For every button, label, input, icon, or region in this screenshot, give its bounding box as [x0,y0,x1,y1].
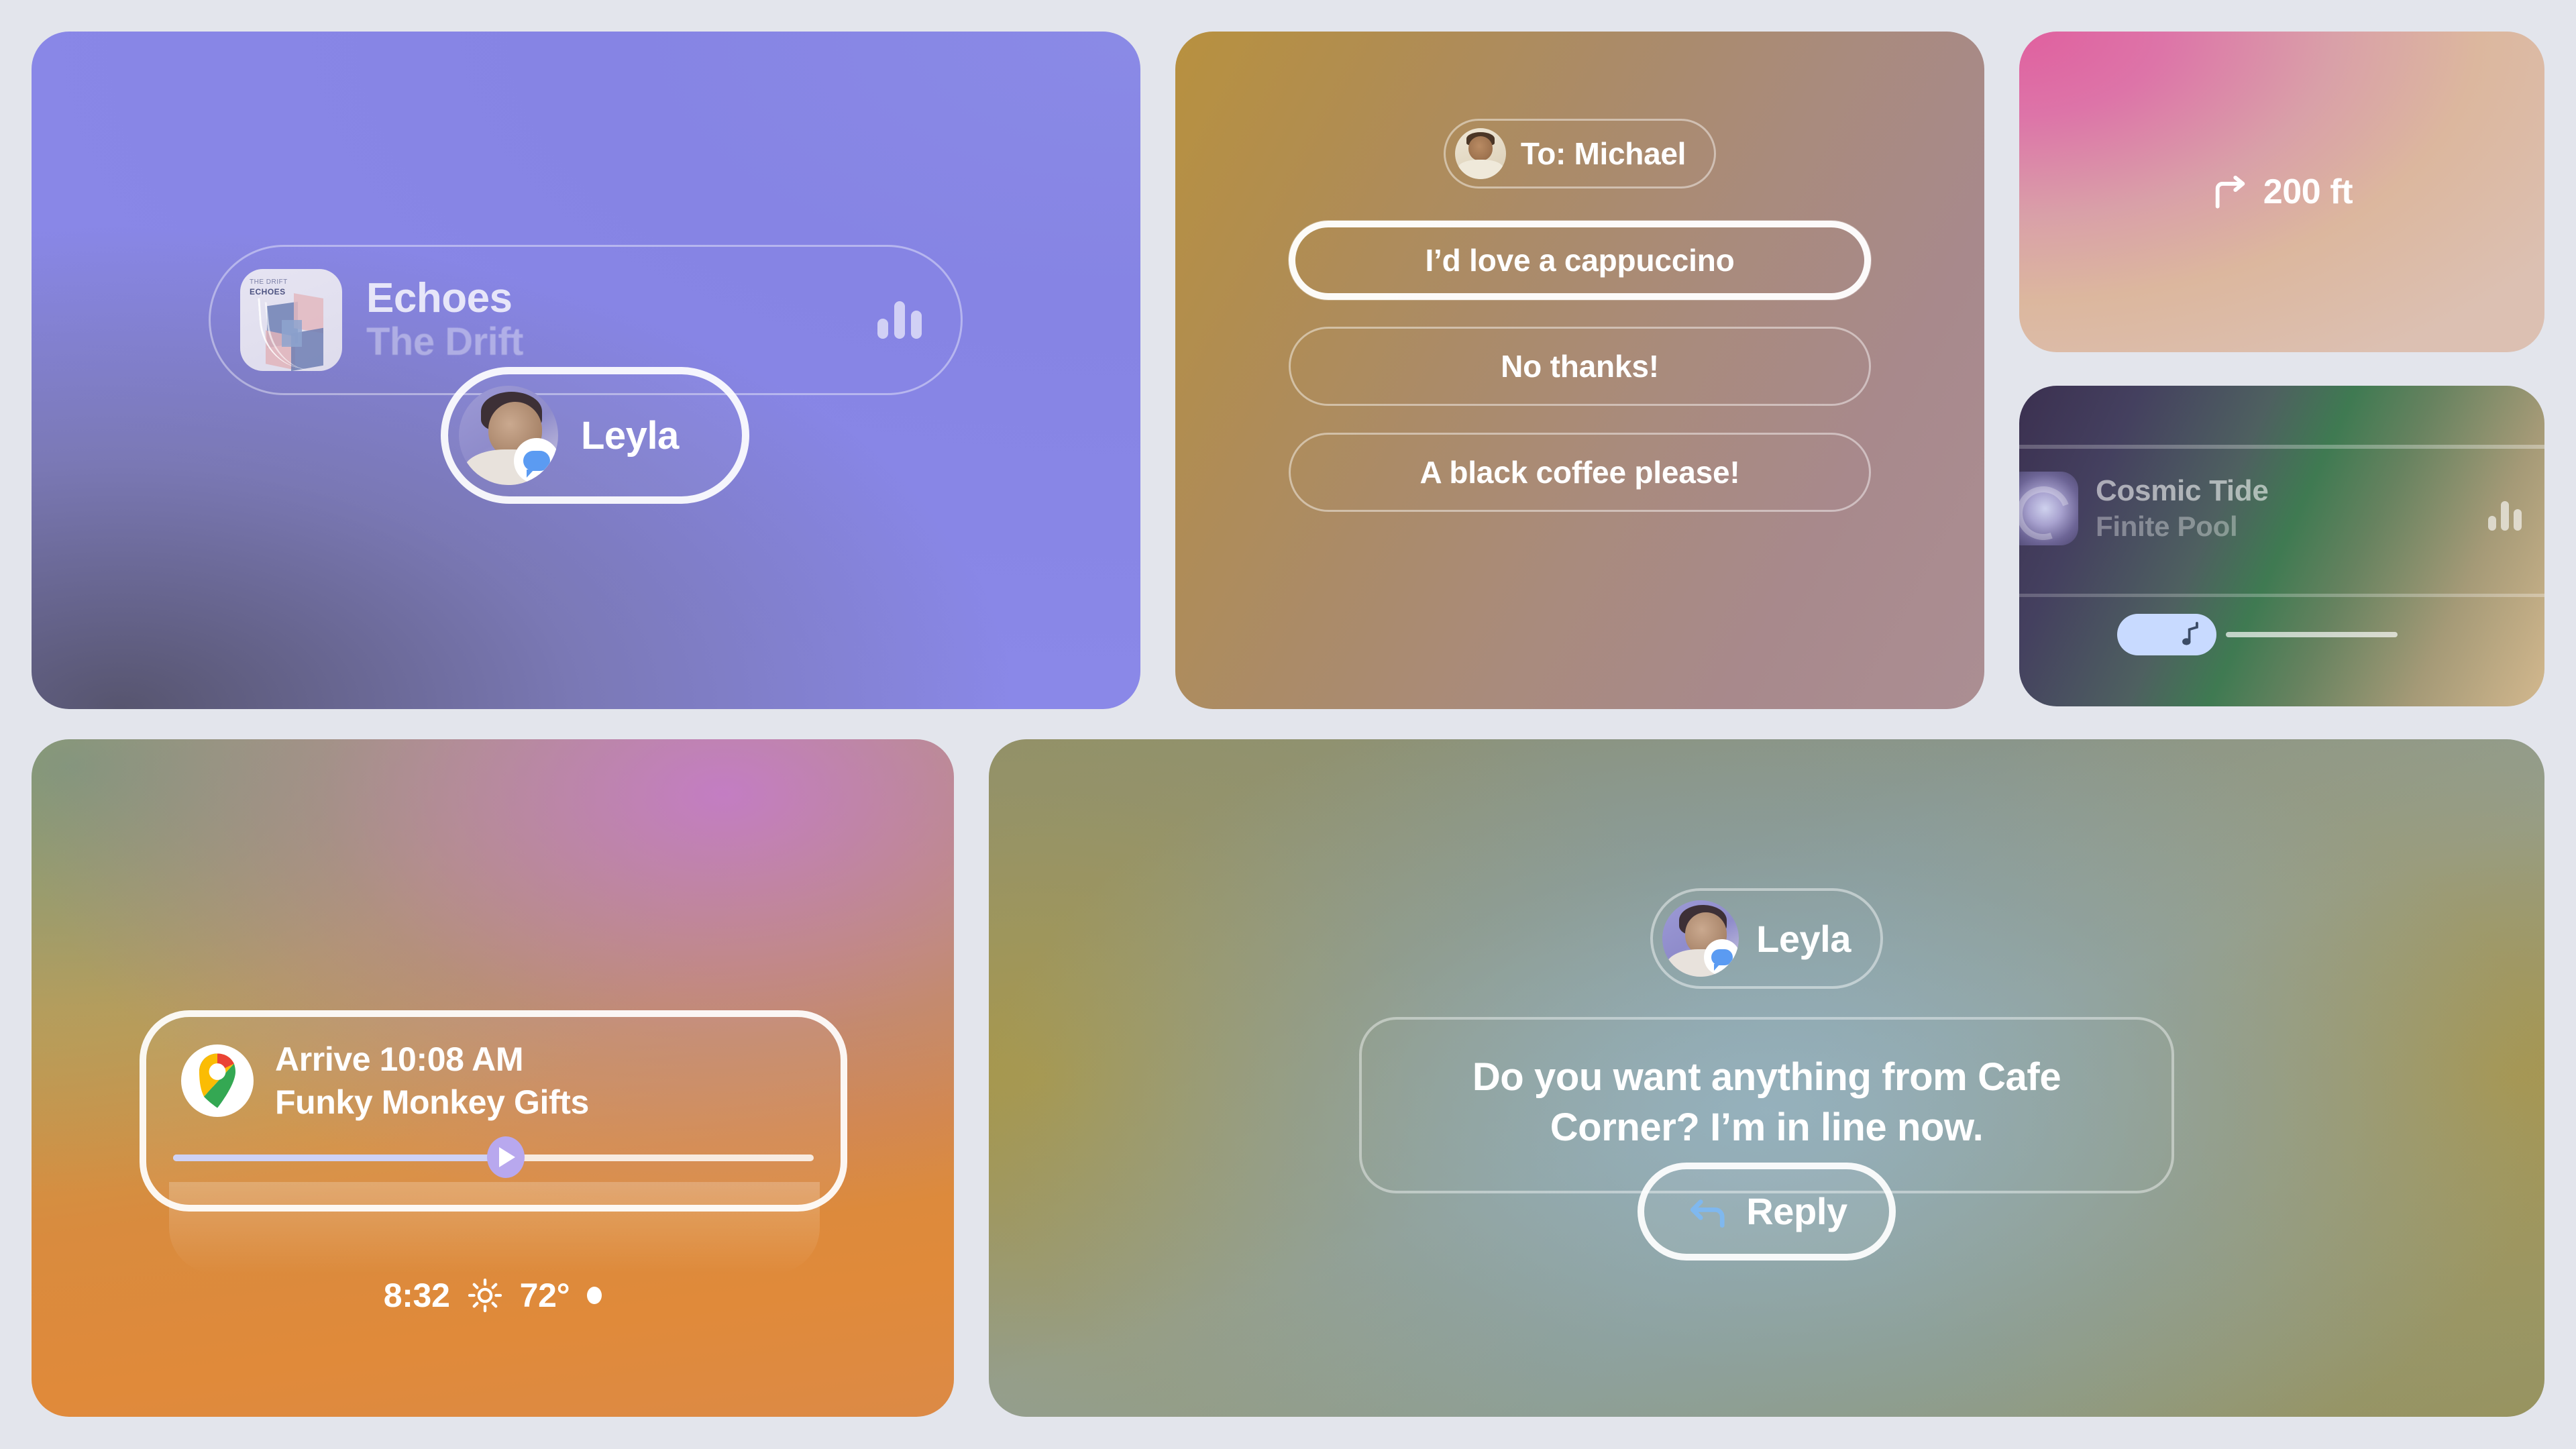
scrubber-track[interactable] [2226,632,2398,637]
album-art-icon: THE DRIFT ECHOES [240,269,342,371]
recipient-pill[interactable]: To: Michael [1444,119,1716,189]
track-title: Echoes [366,277,877,319]
divider-top [2019,445,2544,449]
status-bar: 8:32 72° [32,1276,954,1315]
scrubber-thumb[interactable] [2117,614,2216,655]
card-music-cosmic-tide[interactable]: Cosmic Tide Finite Pool [2019,386,2544,706]
equalizer-icon [2488,501,2522,531]
reply-option-3[interactable]: A black coffee please! [1289,433,1871,512]
card-incoming-message[interactable]: Leyla Do you want anything from Cafe Cor… [989,739,2544,1417]
turn-right-icon [2211,172,2250,211]
card-music-now-playing[interactable]: THE DRIFT ECHOES Echoes The Drift [32,32,1140,709]
music-note-icon [2179,621,2202,648]
reply-option-2-label: No thanks! [1501,348,1659,384]
maps-eta-pill[interactable]: Arrive 10:08 AM Funky Monkey Gifts [140,1010,847,1212]
card-navigation-distance[interactable]: 200 ft [2019,32,2544,352]
widget-wall: THE DRIFT ECHOES Echoes The Drift [0,0,2576,1449]
reply-option-1-label: I’d love a cappuccino [1425,242,1734,278]
avatar-michael [1455,128,1506,179]
reply-option-1[interactable]: I’d love a cappuccino [1289,221,1871,300]
reply-option-2[interactable]: No thanks! [1289,327,1871,406]
reply-button[interactable]: Reply [1638,1163,1896,1260]
track-title: Cosmic Tide [2096,474,2269,508]
card-maps-navigation[interactable]: Arrive 10:08 AM Funky Monkey Gifts 8:32 [32,739,954,1417]
messages-bubble-icon [1704,939,1739,975]
avatar [1662,900,1739,977]
dot-icon [587,1287,602,1304]
reply-option-3-label: A black coffee please! [1419,454,1739,490]
track-artist: The Drift [366,322,877,363]
reply-arrow-icon [1686,1192,1727,1231]
track-artist: Finite Pool [2096,511,2269,543]
equalizer-icon [877,301,922,339]
destination-name: Funky Monkey Gifts [275,1083,589,1122]
status-temperature: 72° [520,1276,570,1315]
album-art-top-label: THE DRIFT [250,278,288,286]
arrival-time: Arrive 10:08 AM [275,1040,589,1079]
sender-pill[interactable]: Leyla [1650,888,1883,989]
progress-fill [173,1155,506,1161]
nav-distance-label: 200 ft [2263,172,2353,212]
sender-name: Leyla [1756,917,1851,961]
now-playing-meta: Echoes The Drift [366,277,877,363]
card-smart-reply[interactable]: To: Michael I’d love a cappuccino No tha… [1175,32,1984,709]
album-art-icon [2019,472,2078,545]
cosmic-now-playing: Cosmic Tide Finite Pool [2019,472,2544,545]
recipient-label: To: Michael [1521,136,1686,172]
scrubber[interactable] [2117,614,2398,655]
play-triangle-icon [499,1147,515,1167]
route-progress[interactable] [173,1152,814,1162]
progress-thumb[interactable] [487,1136,525,1178]
sun-icon [468,1278,502,1313]
avatar [459,386,558,485]
message-text: Do you want anything from Cafe Corner? I… [1405,1052,2129,1153]
album-art-title-label: ECHOES [250,287,288,297]
status-time: 8:32 [384,1276,450,1315]
reply-button-label: Reply [1746,1189,1847,1233]
contact-pill-leyla[interactable]: Leyla [441,367,749,504]
contact-name: Leyla [581,413,679,458]
divider-bottom [2019,594,2544,597]
messages-bubble-icon [514,438,558,484]
google-maps-pin-icon [181,1044,254,1117]
maps-eta-text: Arrive 10:08 AM Funky Monkey Gifts [275,1040,589,1122]
